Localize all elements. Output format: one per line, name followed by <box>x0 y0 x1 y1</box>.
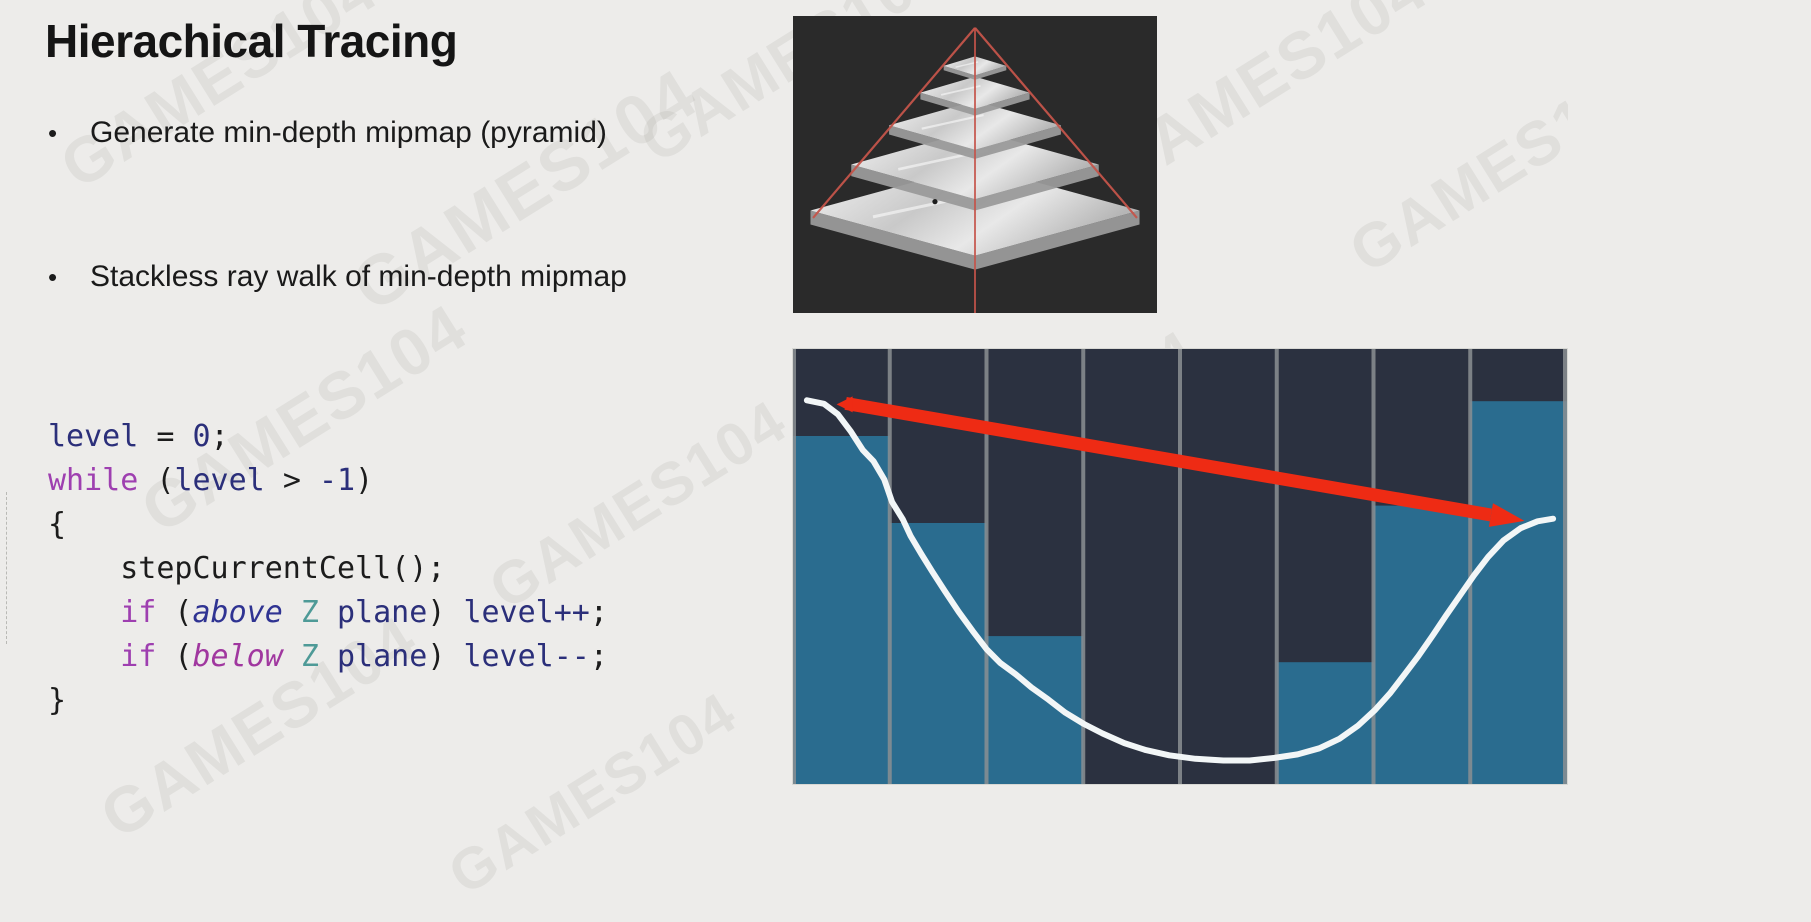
depth-raywalk-figure <box>792 348 1568 785</box>
code-token: level <box>48 419 138 454</box>
code-token <box>48 595 120 630</box>
code-token: level <box>174 463 264 498</box>
code-token <box>174 419 192 454</box>
code-token: = <box>156 419 174 454</box>
code-token: below <box>193 639 283 674</box>
code-token: ; <box>211 419 229 454</box>
code-token: plane <box>337 595 427 630</box>
code-line: if (below Z plane) level--; <box>48 639 608 674</box>
code-snippet: level = 0; while (level > -1) { stepCurr… <box>48 415 608 723</box>
depth-cell-divider <box>793 349 796 784</box>
depth-cell-fill <box>1470 401 1567 784</box>
list-item: • Generate min-depth mipmap (pyramid) <box>40 110 770 156</box>
depth-cell-divider <box>1178 349 1182 784</box>
code-token: level-- <box>463 639 589 674</box>
code-token: (); <box>391 551 445 586</box>
depth-cell-fill <box>890 523 987 784</box>
code-token <box>48 639 120 674</box>
code-line: level = 0; <box>48 419 229 454</box>
code-line: if (above Z plane) level++; <box>48 595 608 630</box>
depth-cell-divider <box>985 349 989 784</box>
bullet-text: Generate min-depth mipmap (pyramid) <box>90 110 607 156</box>
code-token <box>445 639 463 674</box>
code-token: ( <box>156 595 192 630</box>
code-token: } <box>48 683 66 718</box>
bullet-marker-icon: • <box>40 110 90 156</box>
code-token: if <box>120 639 156 674</box>
depth-svg <box>793 349 1567 784</box>
pyramid-sample-dot <box>932 199 937 204</box>
code-token <box>445 595 463 630</box>
code-token: level++ <box>463 595 589 630</box>
depth-cell-divider <box>1081 349 1085 784</box>
code-token: plane <box>337 639 427 674</box>
presentation-slide: GAMES104GAMES104GAMES104GAMES104GAMES104… <box>0 0 1811 922</box>
code-token <box>319 595 337 630</box>
list-item: • Stackless ray walk of min-depth mipmap <box>40 254 770 300</box>
slide-left-column: Hierachical Tracing • Generate min-depth… <box>0 0 790 922</box>
code-token <box>138 419 156 454</box>
code-line: { <box>48 507 66 542</box>
depth-cell-divider <box>1468 349 1472 784</box>
depth-cell-fill <box>793 436 890 784</box>
bullet-text: Stackless ray walk of min-depth mipmap <box>90 254 627 300</box>
code-token: ; <box>590 639 608 674</box>
code-token: ( <box>138 463 174 498</box>
depth-cell-fill <box>987 636 1084 784</box>
code-token <box>301 463 319 498</box>
code-token: Z <box>301 639 319 674</box>
code-token: { <box>48 507 66 542</box>
code-token: ) <box>355 463 373 498</box>
mipmap-pyramid-figure <box>793 16 1157 313</box>
code-line: } <box>48 683 66 718</box>
code-token <box>283 595 301 630</box>
code-token: if <box>120 595 156 630</box>
slide-right-margin <box>1568 0 1811 922</box>
code-token: -1 <box>319 463 355 498</box>
code-token: while <box>48 463 138 498</box>
code-token: ) <box>427 639 445 674</box>
depth-cell-divider <box>1275 349 1279 784</box>
bullet-list: • Generate min-depth mipmap (pyramid) • … <box>40 110 770 398</box>
code-token: > <box>283 463 301 498</box>
code-token <box>48 551 120 586</box>
code-token <box>283 639 301 674</box>
code-indent-guide <box>6 492 7 644</box>
code-token: Z <box>301 595 319 630</box>
code-token: stepCurrentCell <box>120 551 391 586</box>
code-token: ) <box>427 595 445 630</box>
code-token: ; <box>590 595 608 630</box>
code-token <box>319 639 337 674</box>
pyramid-svg <box>793 16 1157 313</box>
depth-cell-divider <box>1372 349 1376 784</box>
code-token: ( <box>156 639 192 674</box>
code-token <box>265 463 283 498</box>
bullet-marker-icon: • <box>40 254 90 300</box>
depth-cell-fill <box>1374 506 1471 784</box>
code-line: while (level > -1) <box>48 463 373 498</box>
code-line: stepCurrentCell(); <box>48 551 445 586</box>
code-token: 0 <box>193 419 211 454</box>
page-title: Hierachical Tracing <box>45 14 457 68</box>
depth-cell-divider <box>1563 349 1567 784</box>
code-token: above <box>193 595 283 630</box>
